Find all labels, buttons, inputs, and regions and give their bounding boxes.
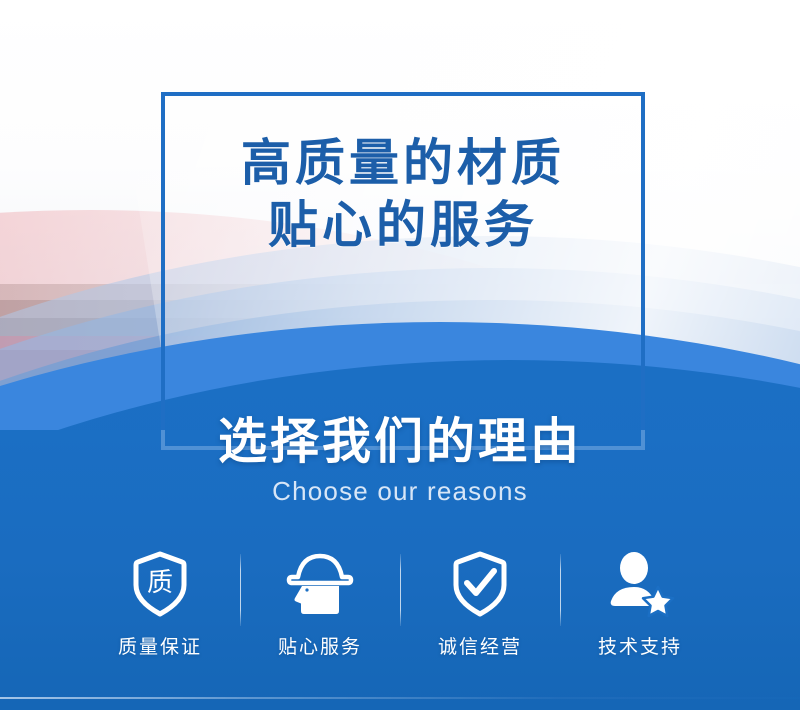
bottom-highlight-line bbox=[0, 697, 800, 699]
svg-text:质: 质 bbox=[147, 567, 173, 597]
promo-banner: 高质量的材质 贴心的服务 选择我们的理由 Choose our reasons … bbox=[0, 0, 800, 710]
feature-item-quality[interactable]: 质 质量保证 bbox=[80, 548, 240, 659]
banner-headline: 高质量的材质 贴心的服务 bbox=[161, 132, 645, 256]
feature-label-service: 贴心服务 bbox=[278, 632, 362, 659]
feature-label-integrity: 诚信经营 bbox=[438, 632, 522, 659]
shield-check-icon bbox=[448, 548, 512, 620]
subtitle: Choose our reasons bbox=[0, 476, 800, 507]
shield-quality-icon: 质 bbox=[128, 548, 192, 620]
feature-label-support: 技术支持 bbox=[598, 632, 682, 659]
feature-item-service[interactable]: 贴心服务 bbox=[240, 548, 400, 659]
helmet-worker-icon bbox=[284, 548, 356, 620]
feature-list: 质 质量保证 贴心服务 bbox=[80, 548, 720, 678]
user-star-icon bbox=[604, 548, 676, 620]
headline-line-2: 贴心的服务 bbox=[161, 194, 645, 256]
feature-label-quality: 质量保证 bbox=[118, 632, 202, 659]
headline-line-1: 高质量的材质 bbox=[241, 135, 565, 191]
feature-item-support[interactable]: 技术支持 bbox=[560, 548, 720, 659]
feature-item-integrity[interactable]: 诚信经营 bbox=[400, 548, 560, 659]
main-title: 选择我们的理由 bbox=[0, 414, 800, 470]
